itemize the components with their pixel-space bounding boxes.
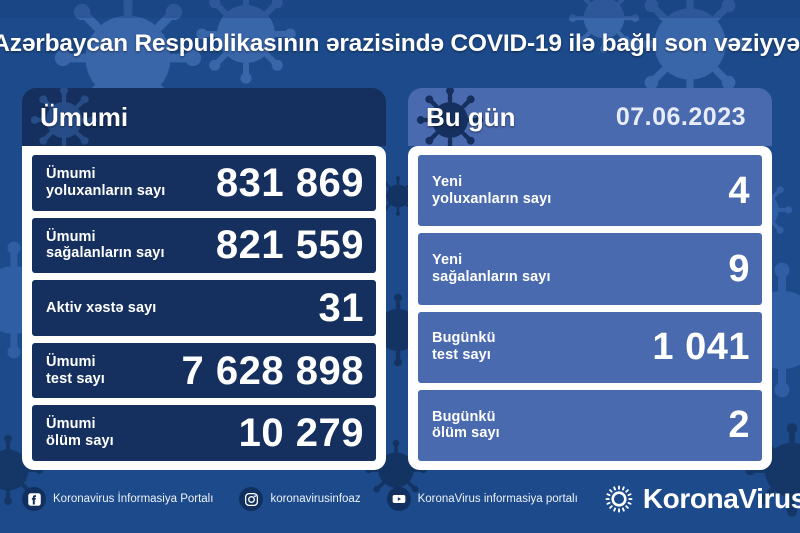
panel-today-card: Yeni yoluxanların sayı 4 Yeni sağalanlar… — [408, 146, 772, 470]
stat-label: Ümumi ölüm sayı — [46, 416, 114, 450]
stat-row-active-cases: Aktiv xəstə sayı 31 — [32, 280, 376, 336]
panel-today: Bu gün 07.06.2023 Yeni yoluxanların sayı… — [408, 88, 772, 470]
youtube-icon[interactable] — [387, 487, 411, 511]
stat-value: 2 — [728, 407, 750, 443]
stat-label: Yeni sağalanların sayı — [432, 252, 551, 286]
brand-logo[interactable]: KoronaVirus info — [604, 483, 800, 515]
stat-label: Ümumi test sayı — [46, 354, 105, 388]
infographic-root: Azərbaycan Respublikasının ərazisində CO… — [0, 0, 800, 533]
stat-label: Bugünkü test sayı — [432, 330, 496, 364]
brand-name: KoronaVirus — [643, 483, 800, 515]
stat-row-total-deaths: Ümumi ölüm sayı 10 279 — [32, 405, 376, 461]
facebook-icon[interactable] — [22, 487, 46, 511]
panel-total-title: Ümumi — [40, 102, 128, 133]
stat-value: 7 628 898 — [182, 352, 364, 390]
panels-container: Ümumi Ümumi yoluxanların sayı 831 869 Üm… — [22, 88, 778, 470]
stat-value: 831 869 — [216, 164, 364, 202]
stat-value: 4 — [728, 173, 750, 209]
stat-value: 31 — [319, 289, 365, 327]
footer-bar: Koronavirus İnformasiya Portalı koronavi… — [22, 477, 778, 521]
stat-row-new-recovered: Yeni sağalanların sayı 9 — [418, 233, 762, 304]
panel-today-title: Bu gün — [426, 102, 516, 133]
stat-value: 9 — [728, 251, 750, 287]
social-label: Koronavirus İnformasiya Portalı — [53, 493, 213, 505]
stat-row-total-recovered: Ümumi sağalanların sayı 821 559 — [32, 218, 376, 274]
page-title-text: Azərbaycan Respublikasının ərazisində CO… — [0, 30, 800, 58]
panel-total-tab: Ümumi — [22, 88, 386, 146]
social-link-youtube[interactable]: KoronaVirus informasiya portalı — [387, 487, 578, 511]
stat-label: Ümumi yoluxanların sayı — [46, 166, 165, 200]
instagram-icon[interactable] — [239, 487, 263, 511]
social-label: koronavirusinfoaz — [270, 493, 360, 505]
stat-row-today-deaths: Bugünkü ölüm sayı 2 — [418, 390, 762, 461]
social-link-instagram[interactable]: koronavirusinfoaz — [239, 487, 360, 511]
panel-total: Ümumi Ümumi yoluxanların sayı 831 869 Üm… — [22, 88, 386, 470]
stat-row-total-tests: Ümumi test sayı 7 628 898 — [32, 343, 376, 399]
stat-label: Aktiv xəstə sayı — [46, 300, 156, 317]
stat-label: Yeni yoluxanların sayı — [432, 174, 551, 208]
stat-value: 821 559 — [216, 226, 364, 264]
sun-virus-icon — [604, 484, 634, 514]
page-title: Azərbaycan Respublikasının ərazisində CO… — [0, 22, 800, 66]
social-link-facebook[interactable]: Koronavirus İnformasiya Portalı — [22, 487, 213, 511]
social-label: KoronaVirus informasiya portalı — [418, 493, 578, 505]
stat-label: Bugünkü ölüm sayı — [432, 409, 500, 443]
stat-value: 10 279 — [239, 414, 364, 452]
panel-today-date: 07.06.2023 — [616, 103, 754, 132]
stat-row-total-cases: Ümumi yoluxanların sayı 831 869 — [32, 155, 376, 211]
stat-label: Ümumi sağalanların sayı — [46, 229, 165, 263]
panel-total-card: Ümumi yoluxanların sayı 831 869 Ümumi sa… — [22, 146, 386, 470]
stat-value: 1 041 — [652, 329, 750, 365]
stat-row-new-cases: Yeni yoluxanların sayı 4 — [418, 155, 762, 226]
panel-today-tab: Bu gün 07.06.2023 — [408, 88, 772, 146]
stat-row-today-tests: Bugünkü test sayı 1 041 — [418, 312, 762, 383]
